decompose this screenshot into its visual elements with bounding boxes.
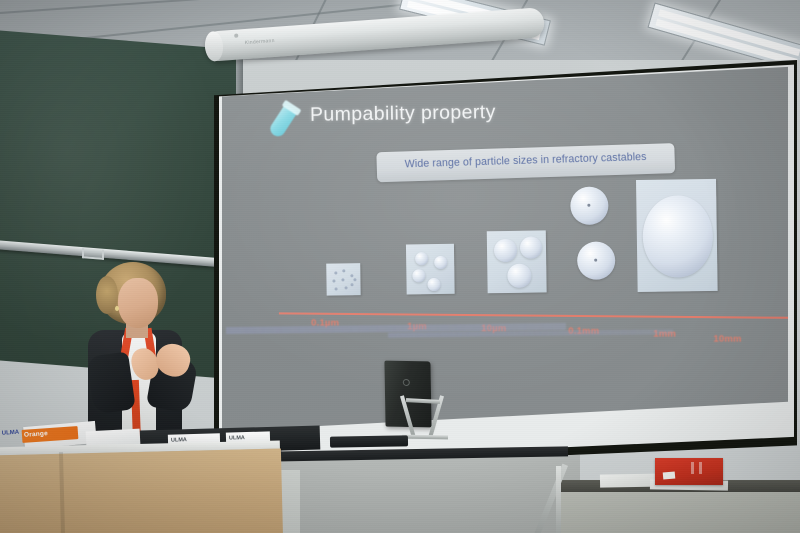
floor <box>280 455 580 533</box>
handrail-post <box>556 466 561 533</box>
presenter-earring <box>115 306 119 311</box>
lectern-desk <box>0 448 283 533</box>
roller-logo-label: Kindermann <box>245 38 275 46</box>
lecture-hall-scene: Kindermann Pumpability property Wide ran… <box>0 0 800 533</box>
monitor-logo-icon <box>403 379 410 386</box>
keyboard[interactable] <box>330 435 408 447</box>
scale-label-5: 10mm <box>713 334 741 345</box>
presentation-slide: Pumpability property Wide range of parti… <box>222 65 788 431</box>
presenter-face <box>118 278 158 328</box>
brand-banner-text: Orange <box>24 430 48 439</box>
red-box-label-tag <box>663 471 676 479</box>
slide-banner-text: Wide range of particle sizes in refracto… <box>377 150 675 171</box>
red-storage-box[interactable] <box>655 458 723 485</box>
test-tube-icon <box>268 101 301 140</box>
light-tube <box>658 10 800 57</box>
roller-screw <box>234 34 238 38</box>
slide-banner: Wide range of particle sizes in refracto… <box>376 143 675 182</box>
presenter-arm-left <box>86 351 136 414</box>
monitor-stand <box>400 395 452 441</box>
chalkboard-handle-icon[interactable] <box>82 248 104 260</box>
side-counter-front <box>560 492 800 533</box>
size-scale-axis <box>279 312 788 319</box>
slide-title: Pumpability property <box>310 101 496 127</box>
